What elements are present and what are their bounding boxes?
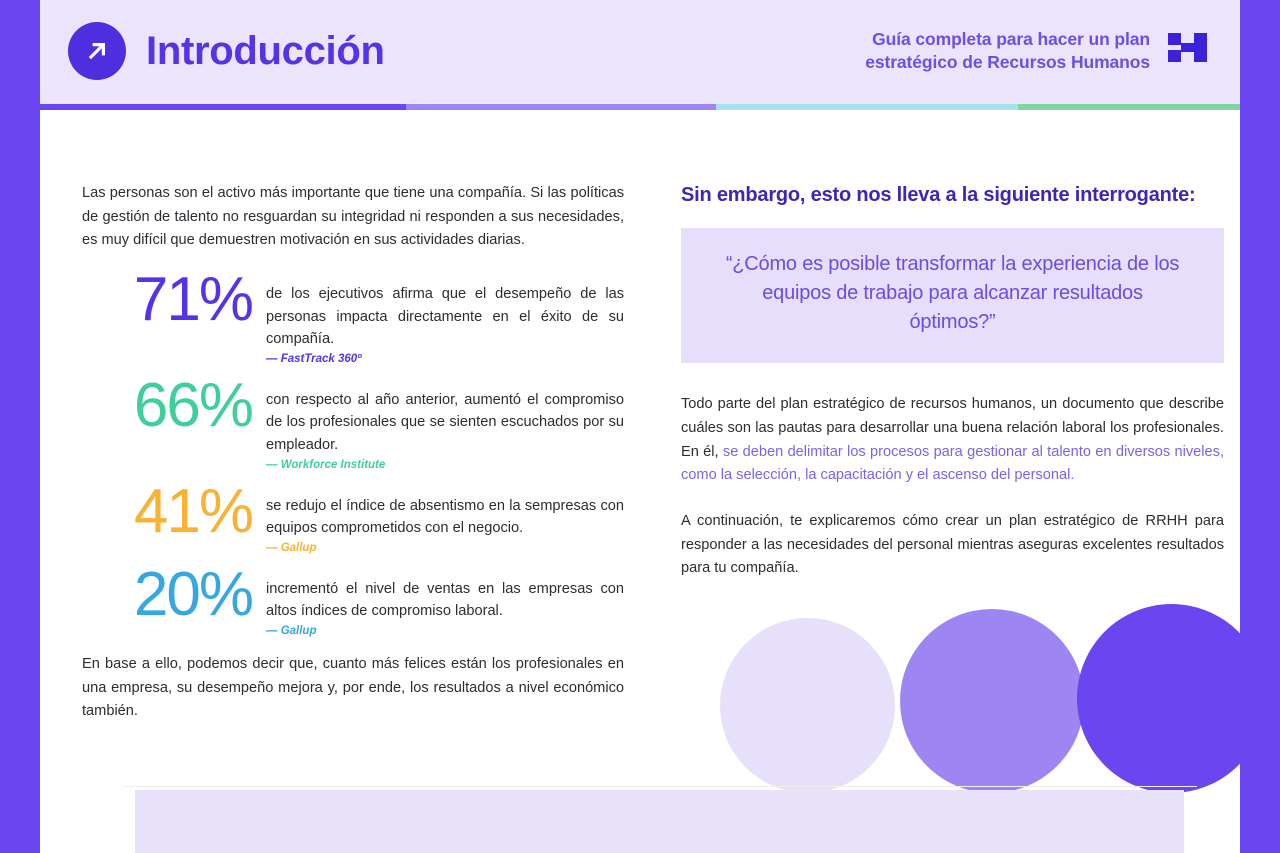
right-paragraph-1: Todo parte del plan estratégico de recur…: [681, 393, 1224, 488]
slide-sheet: Introducción Guía completa para hacer un…: [40, 0, 1240, 853]
stat-description: se redujo el índice de absentismo en la …: [266, 495, 624, 540]
stat-source: — FastTrack 360º: [266, 353, 624, 365]
stat-body: de los ejecutivos afirma que el desempeñ…: [266, 275, 624, 365]
stat-body: con respecto al año anterior, aumentó el…: [266, 381, 624, 471]
header-subtitle: Guía completa para hacer un plan estraté…: [865, 28, 1150, 74]
stat-body: se redujo el índice de absentismo en la …: [266, 487, 624, 554]
circle-medium: [900, 609, 1084, 793]
intro-paragraph: Las personas son el activo más important…: [82, 182, 624, 253]
circle-light: [720, 618, 895, 793]
stat-item: 71%de los ejecutivos afirma que el desem…: [82, 275, 624, 365]
slide-page: Introducción Guía completa para hacer un…: [0, 0, 1280, 853]
stat-value: 41%: [82, 483, 252, 540]
stat-source: — Gallup: [266, 542, 624, 554]
circle-dark: [1077, 604, 1266, 793]
decorative-circles: [681, 603, 1224, 793]
right-paragraph-2: A continuación, te explicaremos cómo cre…: [681, 510, 1224, 581]
right-paragraph-1-highlight[interactable]: se deben delimitar los procesos para ges…: [681, 444, 1224, 484]
statistics-list: 71%de los ejecutivos afirma que el desem…: [82, 275, 624, 637]
stat-description: de los ejecutivos afirma que el desempeñ…: [266, 283, 624, 351]
page-title: Introducción: [146, 31, 385, 71]
outro-paragraph: En base a ello, podemos decir que, cuant…: [82, 653, 624, 724]
stat-description: con respecto al año anterior, aumentó el…: [266, 389, 624, 457]
quote-box: “¿Cómo es posible transformar la experie…: [681, 228, 1224, 363]
stat-item: 66%con respecto al año anterior, aumentó…: [82, 381, 624, 471]
stat-value: 20%: [82, 566, 252, 623]
stat-body: incrementó el nivel de ventas en las emp…: [266, 570, 624, 637]
stat-description: incrementó el nivel de ventas en las emp…: [266, 578, 624, 623]
right-heading: Sin embargo, esto nos lleva a la siguien…: [681, 182, 1224, 208]
page-header: Introducción Guía completa para hacer un…: [40, 0, 1240, 104]
stat-value: 71%: [82, 271, 252, 328]
quote-text: “¿Cómo es posible transformar la experie…: [717, 250, 1188, 337]
h-brandmark-icon: [1168, 33, 1208, 69]
right-column: Sin embargo, esto nos lleva a la siguien…: [681, 182, 1224, 793]
header-subtitle-line-2: estratégico de Recursos Humanos: [865, 51, 1150, 74]
header-left-group: Introducción: [68, 22, 385, 80]
arrow-up-right-icon: [68, 22, 126, 80]
left-column: Las personas son el activo más important…: [82, 182, 624, 724]
stat-source: — Gallup: [266, 625, 624, 637]
stat-source: — Workforce Institute: [266, 459, 624, 471]
content-divider: [122, 786, 1197, 787]
stat-item: 41%se redujo el índice de absentismo en …: [82, 487, 624, 554]
page-content: Las personas son el activo más important…: [40, 110, 1240, 853]
bottom-panel: [135, 790, 1184, 853]
header-subtitle-line-1: Guía completa para hacer un plan: [865, 28, 1150, 51]
stat-item: 20%incrementó el nivel de ventas en las …: [82, 570, 624, 637]
stat-value: 66%: [82, 377, 252, 434]
header-right-group: Guía completa para hacer un plan estraté…: [865, 28, 1208, 74]
